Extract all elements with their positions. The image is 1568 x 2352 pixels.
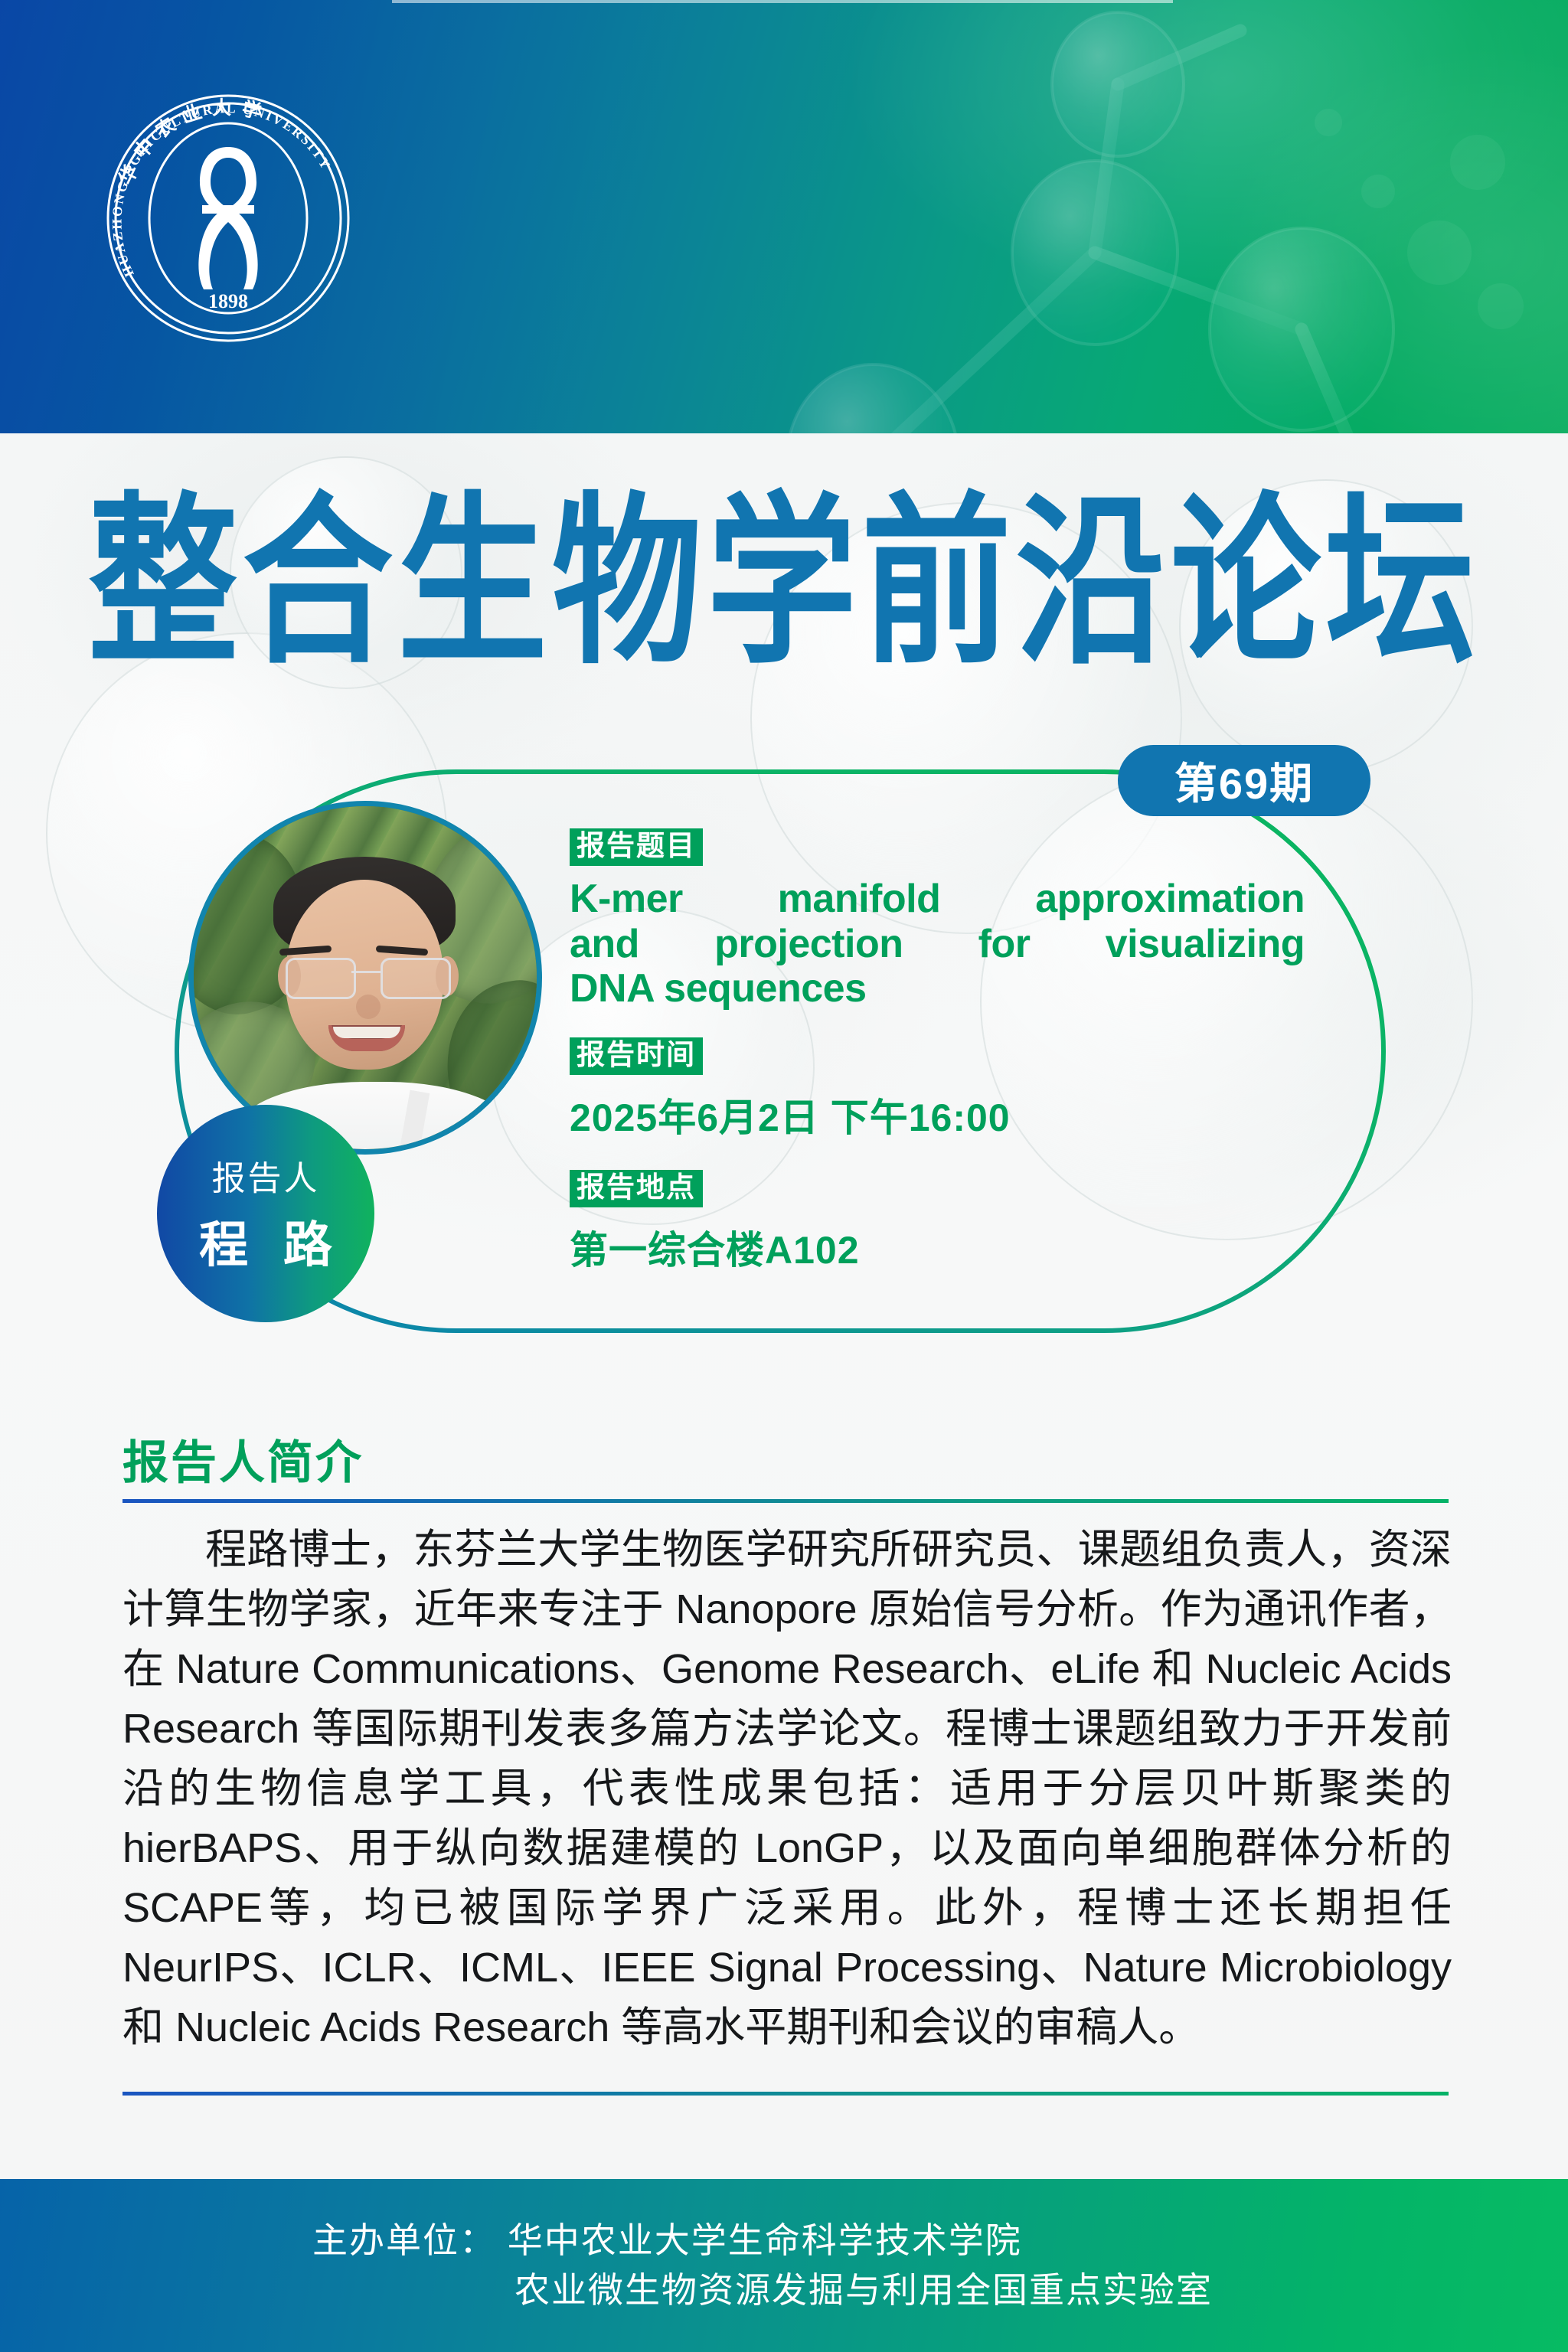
talk-place-group: 报告地点 第一综合楼A102: [570, 1170, 1328, 1275]
talk-time-label: 报告时间: [570, 1037, 703, 1075]
speaker-name: 程 路: [188, 1206, 343, 1276]
speaker-photo: [188, 801, 542, 1155]
page-title: 整合生物学前沿论坛: [0, 492, 1568, 675]
talk-time-value: 2025年6月2日 下午16:00: [570, 1087, 1328, 1142]
seal-year: 1898: [208, 290, 248, 312]
bio-divider-top: [122, 1499, 1449, 1503]
talk-time-group: 报告时间 2025年6月2日 下午16:00: [570, 1037, 1328, 1142]
bio-text: 程路博士，东芬兰大学生物医学研究所研究员、课题组负责人，资深计算生物学家，近年来…: [122, 1520, 1452, 2057]
bio-heading: 报告人简介: [122, 1426, 364, 1492]
footer-organizer-line-1: 主办单位： 华中农业大学生命科学技术学院: [0, 2216, 1568, 2265]
poster-header: 1898 HUAZHONG AGRICULTURAL UNIVERSITY 华中…: [0, 0, 1568, 433]
bio-divider-bottom: [122, 2092, 1449, 2096]
talk-place-value: 第一综合楼A102: [570, 1220, 1328, 1275]
talk-info-block: 报告题目 K-mer manifold approximation and pr…: [570, 828, 1328, 1275]
photo-teeth: [333, 1027, 400, 1038]
footer-organizer-line-2: 农业微生物资源发掘与利用全国重点实验室: [0, 2265, 1568, 2315]
header-top-rule: [392, 0, 1173, 3]
issue-number-badge: 第69期: [1118, 745, 1370, 816]
photo-glasses: [284, 958, 448, 998]
photo-nose: [356, 995, 381, 1019]
talk-title-line-1: K-mer manifold approximation: [570, 877, 1305, 922]
talk-title-line-3: DNA sequences: [570, 966, 867, 1011]
university-seal-logo: 1898 HUAZHONG AGRICULTURAL UNIVERSITY 华中…: [102, 92, 354, 345]
talk-title-line-2: and projection for visualizing: [570, 922, 1305, 967]
speaker-badge: 报告人 程 路: [157, 1105, 374, 1322]
speaker-role-label: 报告人: [212, 1151, 320, 1200]
talk-title-label: 报告题目: [570, 828, 703, 866]
talk-title: K-mer manifold approximation and project…: [570, 877, 1305, 1011]
talk-place-label: 报告地点: [570, 1170, 703, 1207]
poster-footer: 主办单位： 华中农业大学生命科学技术学院 农业微生物资源发掘与利用全国重点实验室: [0, 2179, 1568, 2352]
poster-root: 1898 HUAZHONG AGRICULTURAL UNIVERSITY 华中…: [0, 0, 1568, 2352]
